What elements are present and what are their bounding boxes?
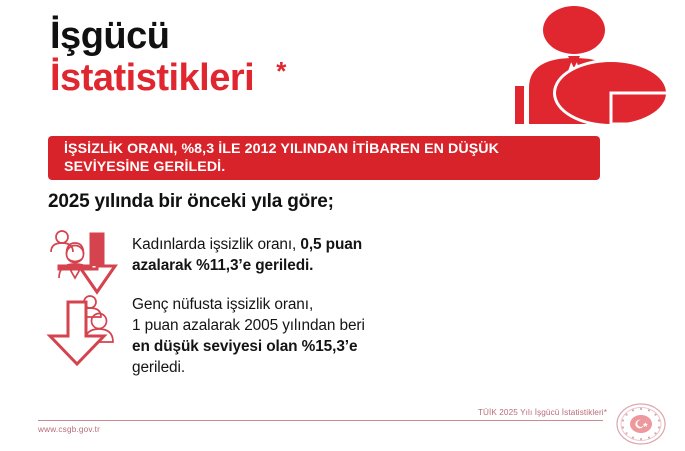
headline-banner-text: İŞSİZLİK ORANI, %8,3 İLE 2012 YILINDAN İ… [64,141,586,176]
fact-youth-line1: Genç nüfusta işsizlik oranı, [132,296,313,313]
youth-down-arrow-icon [38,294,120,362]
person-pie-chart-illustration [507,6,677,124]
footer-website-url[interactable]: www.csgb.gov.tr [38,424,100,435]
women-down-arrow-icon [38,228,120,296]
fact-text-youth: Genç nüfusta işsizlik oranı, 1 puan azal… [132,294,365,378]
fact-youth-line3-bold: en düşük seviyesi olan %15,3’e [132,338,357,355]
footer-divider [38,420,603,421]
fact-women-line2-bold: azalarak %11,3’e geriledi. [132,257,313,274]
footer-source-note: TÜİK 2025 Yılı İşgücü İstatistikleri* [478,407,607,418]
page-title: İşgücü İstatistikleri * [50,14,286,100]
fact-row-women: Kadınlarda işsizlik oranı, 0,5 puan azal… [38,228,362,296]
intro-text: 2025 yılında bir önceki yıla göre; [48,190,334,214]
infographic-canvas: İşgücü İstatistikleri * [0,0,685,450]
title-line-secondary: İstatistikleri [50,56,254,100]
ministry-emblem-icon [615,402,667,446]
fact-youth-line4: geriledi. [132,359,185,376]
fact-women-line1-normal: Kadınlarda işsizlik oranı, [132,236,300,253]
fact-youth-line2: 1 puan azalarak 2005 yılından beri [132,317,365,334]
fact-women-line1-bold: 0,5 puan [300,236,362,253]
fact-row-youth: Genç nüfusta işsizlik oranı, 1 puan azal… [38,294,365,378]
headline-banner: İŞSİZLİK ORANI, %8,3 İLE 2012 YILINDAN İ… [48,136,600,180]
header: İşgücü İstatistikleri * [0,0,685,128]
title-footnote-asterisk: * [276,58,286,84]
fact-text-women: Kadınlarda işsizlik oranı, 0,5 puan azal… [132,228,362,276]
title-line-primary: İşgücü [50,14,286,58]
